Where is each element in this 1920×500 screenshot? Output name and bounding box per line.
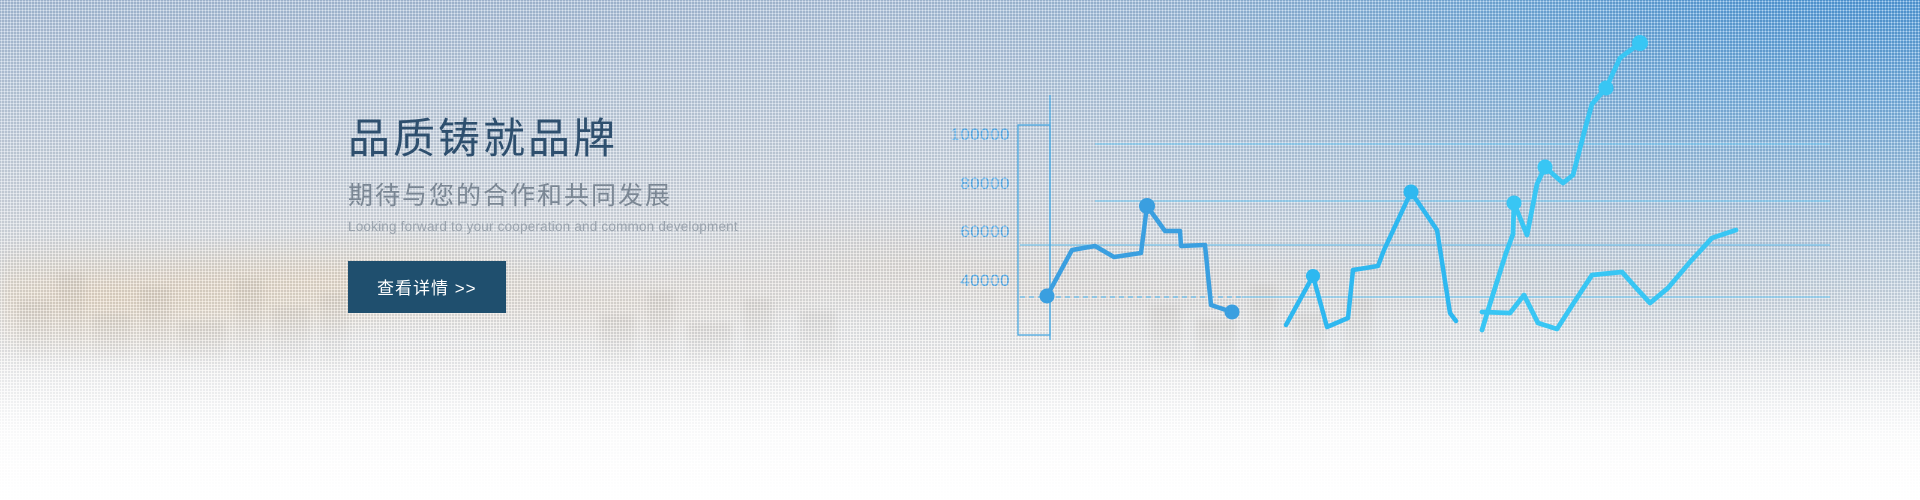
chart-series-2: [1286, 192, 1456, 327]
view-details-button[interactable]: 查看详情 >>: [348, 261, 506, 313]
page-title: 品质铸就品牌: [348, 118, 868, 160]
hero-copy: 品质铸就品牌 期待与您的合作和共同发展 Looking forward to y…: [348, 118, 868, 313]
chart-series-3-markers: [1507, 35, 1649, 211]
line-chart: [0, 0, 1920, 500]
chart-series-3: [1482, 43, 1640, 330]
hero-banner: 100000 80000 60000 40000 品质铸就品牌 期待与您的合作和…: [0, 0, 1920, 500]
chart-series-1: [1047, 206, 1232, 312]
subtitle-en: Looking forward to your cooperation and …: [348, 220, 868, 234]
chart-gridlines: [1020, 144, 1830, 297]
subtitle-cn: 期待与您的合作和共同发展: [348, 184, 868, 209]
